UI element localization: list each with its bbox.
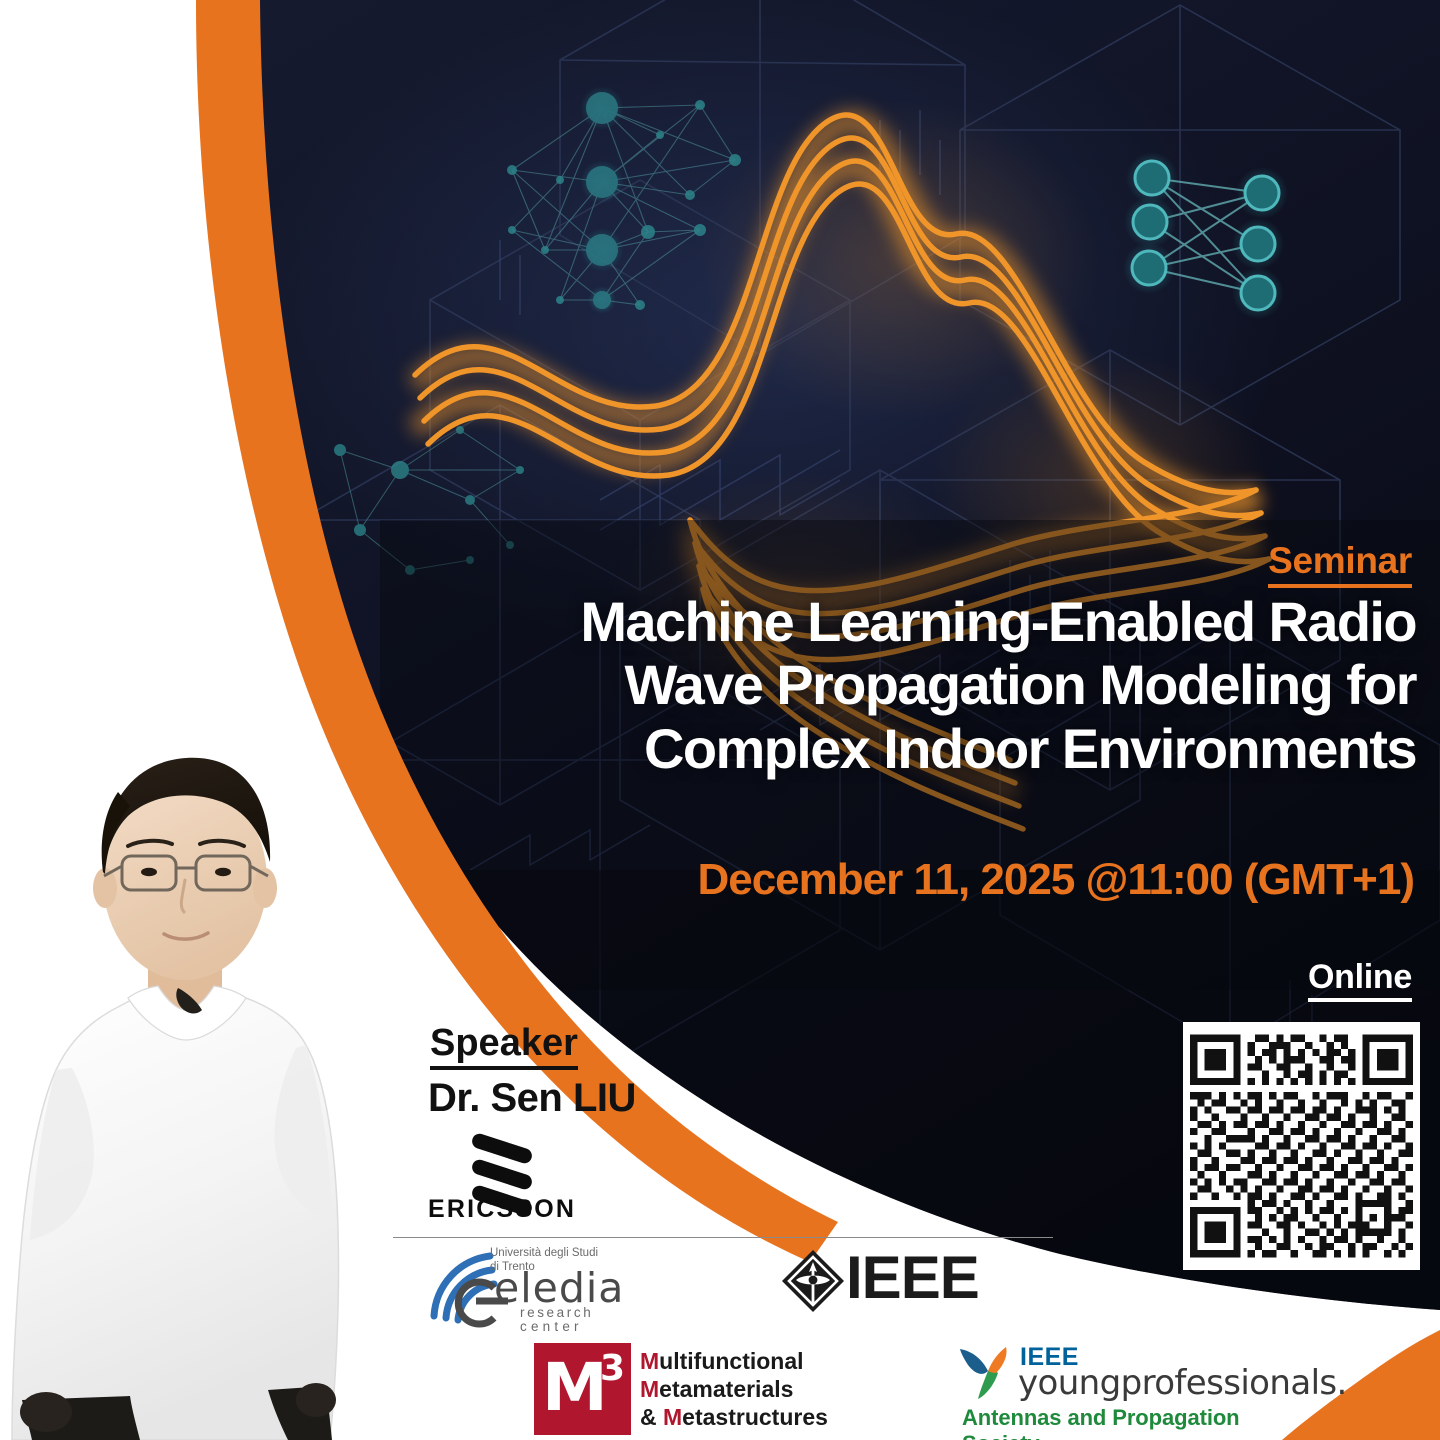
seminar-kicker: Seminar <box>1268 540 1412 588</box>
seminar-poster: Seminar Machine Learning-Enabled Radio W… <box>0 0 1440 1440</box>
eledia-sub-center: center <box>520 1319 583 1334</box>
speaker-label: Speaker <box>430 1022 578 1070</box>
event-datetime: December 11, 2025 @11:00 (GMT+1) <box>697 855 1414 905</box>
m3-line-2: Metamaterials <box>640 1375 828 1403</box>
ieee-wordmark: IEEE <box>846 1248 979 1308</box>
yp-check-icon <box>958 1343 1018 1401</box>
title-line-2: Wave Propagation Modeling for <box>436 653 1416 716</box>
eledia-wordmark: eledia <box>494 1268 624 1309</box>
event-mode-badge: Online <box>1308 958 1412 1002</box>
m3-wordmark: Multifunctional Metamaterials & Metastru… <box>640 1347 828 1431</box>
section-divider <box>393 1237 1053 1238</box>
m3-badge-letter: M <box>542 1355 608 1421</box>
ieee-young-professionals-logo: IEEE youngprofessionals. Antennas and Pr… <box>958 1345 1308 1435</box>
yp-wordmark: youngprofessionals. <box>1018 1366 1347 1400</box>
title-line-3: Complex Indoor Environments <box>436 717 1416 780</box>
m3-logo: M 3 Multifunctional Metamaterials & Meta… <box>534 1343 854 1435</box>
m3-badge-exponent: 3 <box>600 1351 625 1387</box>
ericsson-wordmark: ERICSSON <box>428 1195 576 1224</box>
speaker-name: Dr. Sen LIU <box>428 1076 636 1121</box>
eledia-sub-research: research <box>520 1305 593 1320</box>
page-title: Machine Learning-Enabled Radio Wave Prop… <box>436 590 1416 780</box>
m3-line-1: Multifunctional <box>640 1347 828 1375</box>
yp-society-line: Antennas and Propagation Society <box>962 1405 1308 1440</box>
qr-code-matrix[interactable] <box>1183 1022 1420 1270</box>
qr-code[interactable] <box>1183 1022 1420 1270</box>
m3-line-3: & Metastructures <box>640 1403 828 1431</box>
eledia-logo: Università degli Studi di Trento eledia … <box>428 1246 628 1334</box>
title-line-1: Machine Learning-Enabled Radio <box>436 590 1416 653</box>
